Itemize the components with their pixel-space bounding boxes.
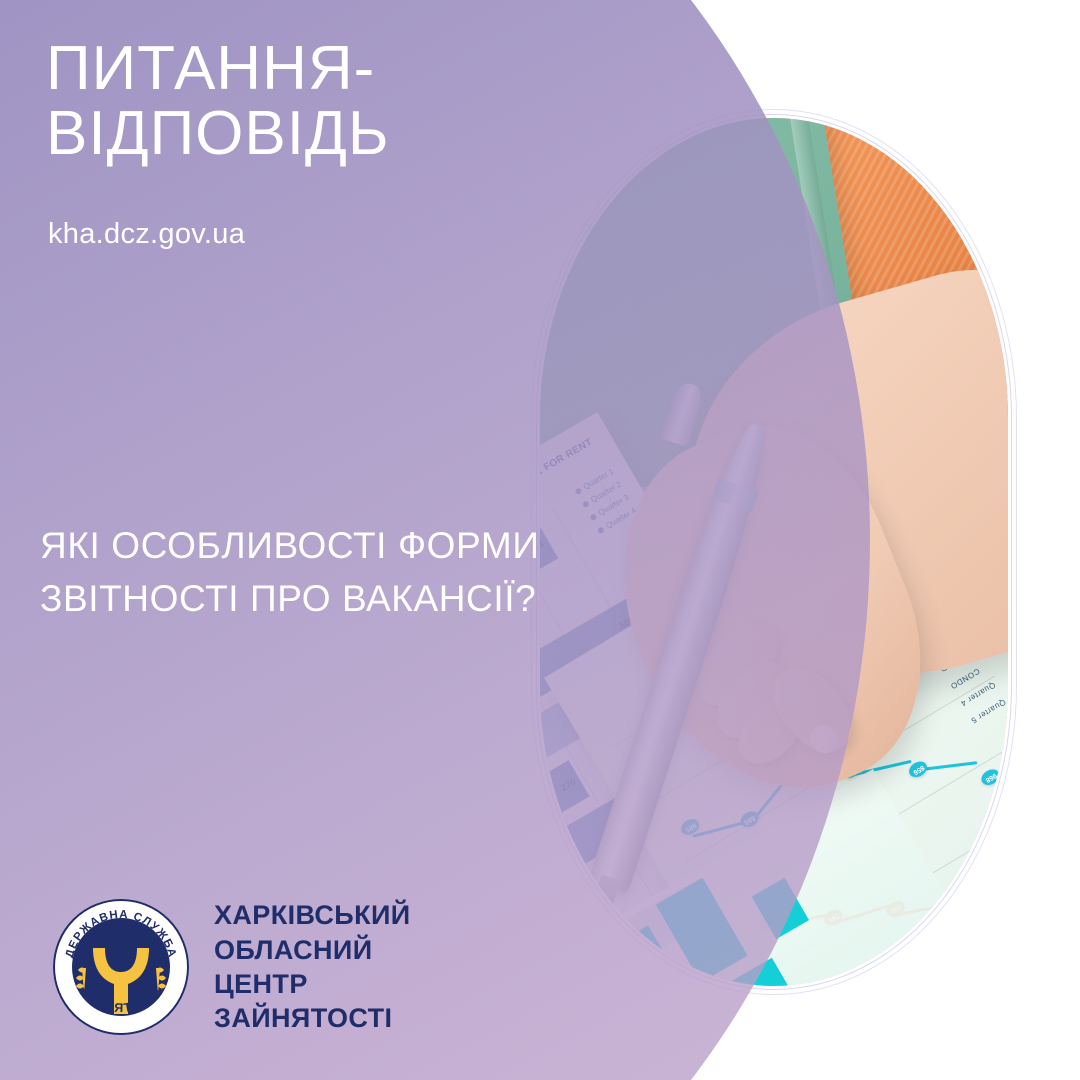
question-text: ЯКІ ОСОБЛИВОСТІ ФОРМИ ЗВІТНОСТІ ПРО ВАКА… [40, 520, 580, 625]
organization-name: ХАРКІВСЬКИЙ ОБЛАСНИЙ ЦЕНТР ЗАЙНЯТОСТІ [214, 898, 411, 1035]
logo-block: ДЕРЖАВНА СЛУЖБА ЗАЙНЯТОСТІ ХАРКІВСЬКИЙ О… [52, 898, 411, 1036]
page-title: ПИТАННЯ- ВІДПОВІДЬ [46, 36, 390, 166]
website-url: kha.dcz.gov.ua [48, 218, 245, 251]
poster-canvas: HOUSE FOR RENT Quarter 1 Quarter 2 Quart… [0, 0, 1080, 1080]
employment-service-emblem-icon: ДЕРЖАВНА СЛУЖБА ЗАЙНЯТОСТІ [52, 898, 190, 1036]
